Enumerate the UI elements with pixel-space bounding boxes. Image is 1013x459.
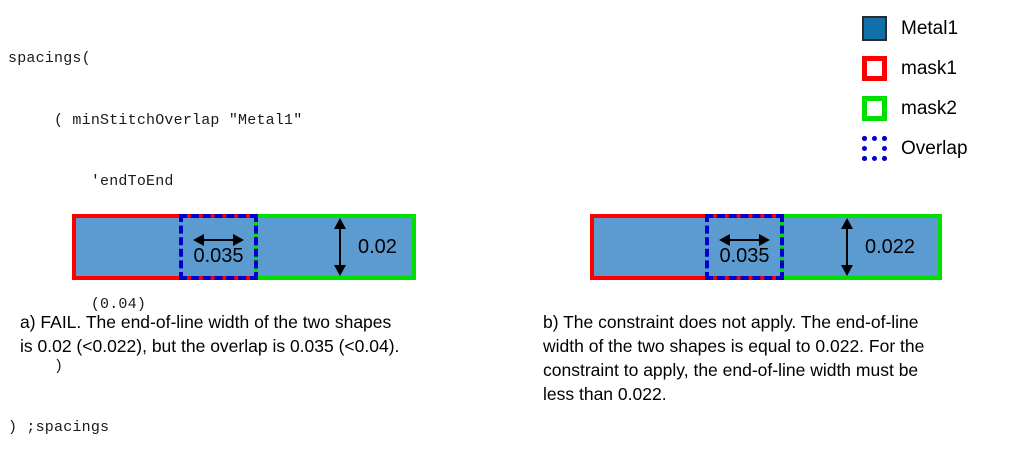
figure-b-not-applicable: 0.035 0.022 (590, 214, 942, 280)
figure-a-fail: 0.035 0.02 (72, 214, 416, 280)
legend-item-mask2: mask2 (862, 88, 1012, 128)
caption-line: b) The constraint does not apply. The en… (543, 310, 1003, 334)
figure-b-caption: b) The constraint does not apply. The en… (543, 310, 1003, 406)
figure-b-shapes: 0.035 0.022 (590, 214, 942, 280)
overlap-swatch-icon (862, 136, 887, 161)
caption-line: less than 0.022. (543, 382, 1003, 406)
figure-a-overlap-label: 0.035 (193, 246, 243, 266)
legend-item-label: Overlap (901, 139, 968, 158)
figure-b-eol-width-dimension: 0.022 (835, 218, 859, 276)
figure-b-eol-width-label: 0.022 (865, 237, 915, 257)
mask1-swatch-icon (862, 56, 887, 81)
legend: Metal1 mask1 mask2 Overlap (862, 8, 1012, 168)
figure-a-overlap-dimension: 0.035 (193, 232, 244, 262)
code-line: spacings( (8, 49, 448, 70)
caption-line: is 0.02 (<0.022), but the overlap is 0.0… (20, 334, 490, 358)
dimension-line (846, 226, 848, 268)
mask2-swatch-icon (862, 96, 887, 121)
legend-item-mask1: mask1 (862, 48, 1012, 88)
legend-item-label: mask2 (901, 99, 957, 118)
figure-a-eol-width-dimension: 0.02 (328, 218, 352, 276)
arrow-down-icon (841, 265, 853, 276)
legend-item-label: mask1 (901, 59, 957, 78)
figure-b-overlap-region: 0.035 (705, 214, 784, 280)
legend-item-metal1: Metal1 (862, 8, 1012, 48)
dimension-line (201, 239, 236, 241)
caption-line: constraint to apply, the end-of-line wid… (543, 358, 1003, 382)
figure-b-mask2-shape (780, 214, 942, 280)
legend-item-overlap: Overlap (862, 128, 1012, 168)
figure-a-overlap-region: 0.035 (179, 214, 258, 280)
legend-item-label: Metal1 (901, 19, 958, 38)
metal1-swatch-icon (862, 16, 887, 41)
figure-b-overlap-label: 0.035 (719, 246, 769, 266)
dimension-line (727, 239, 762, 241)
figure-a-caption: a) FAIL. The end-of-line width of the tw… (20, 310, 490, 358)
figure-a-shapes: 0.035 0.02 (72, 214, 416, 280)
code-line: 'endToEnd (8, 172, 448, 193)
dimension-line (339, 226, 341, 268)
figure-b-overlap-dimension: 0.035 (719, 232, 770, 262)
code-line: ) (8, 357, 448, 378)
arrow-down-icon (334, 265, 346, 276)
caption-line: a) FAIL. The end-of-line width of the tw… (20, 310, 490, 334)
caption-line: width of the two shapes is equal to 0.02… (543, 334, 1003, 358)
code-line: ) ;spacings (8, 418, 448, 439)
figure-a-eol-width-label: 0.02 (358, 237, 397, 257)
code-line: ( minStitchOverlap "Metal1" (8, 111, 448, 132)
